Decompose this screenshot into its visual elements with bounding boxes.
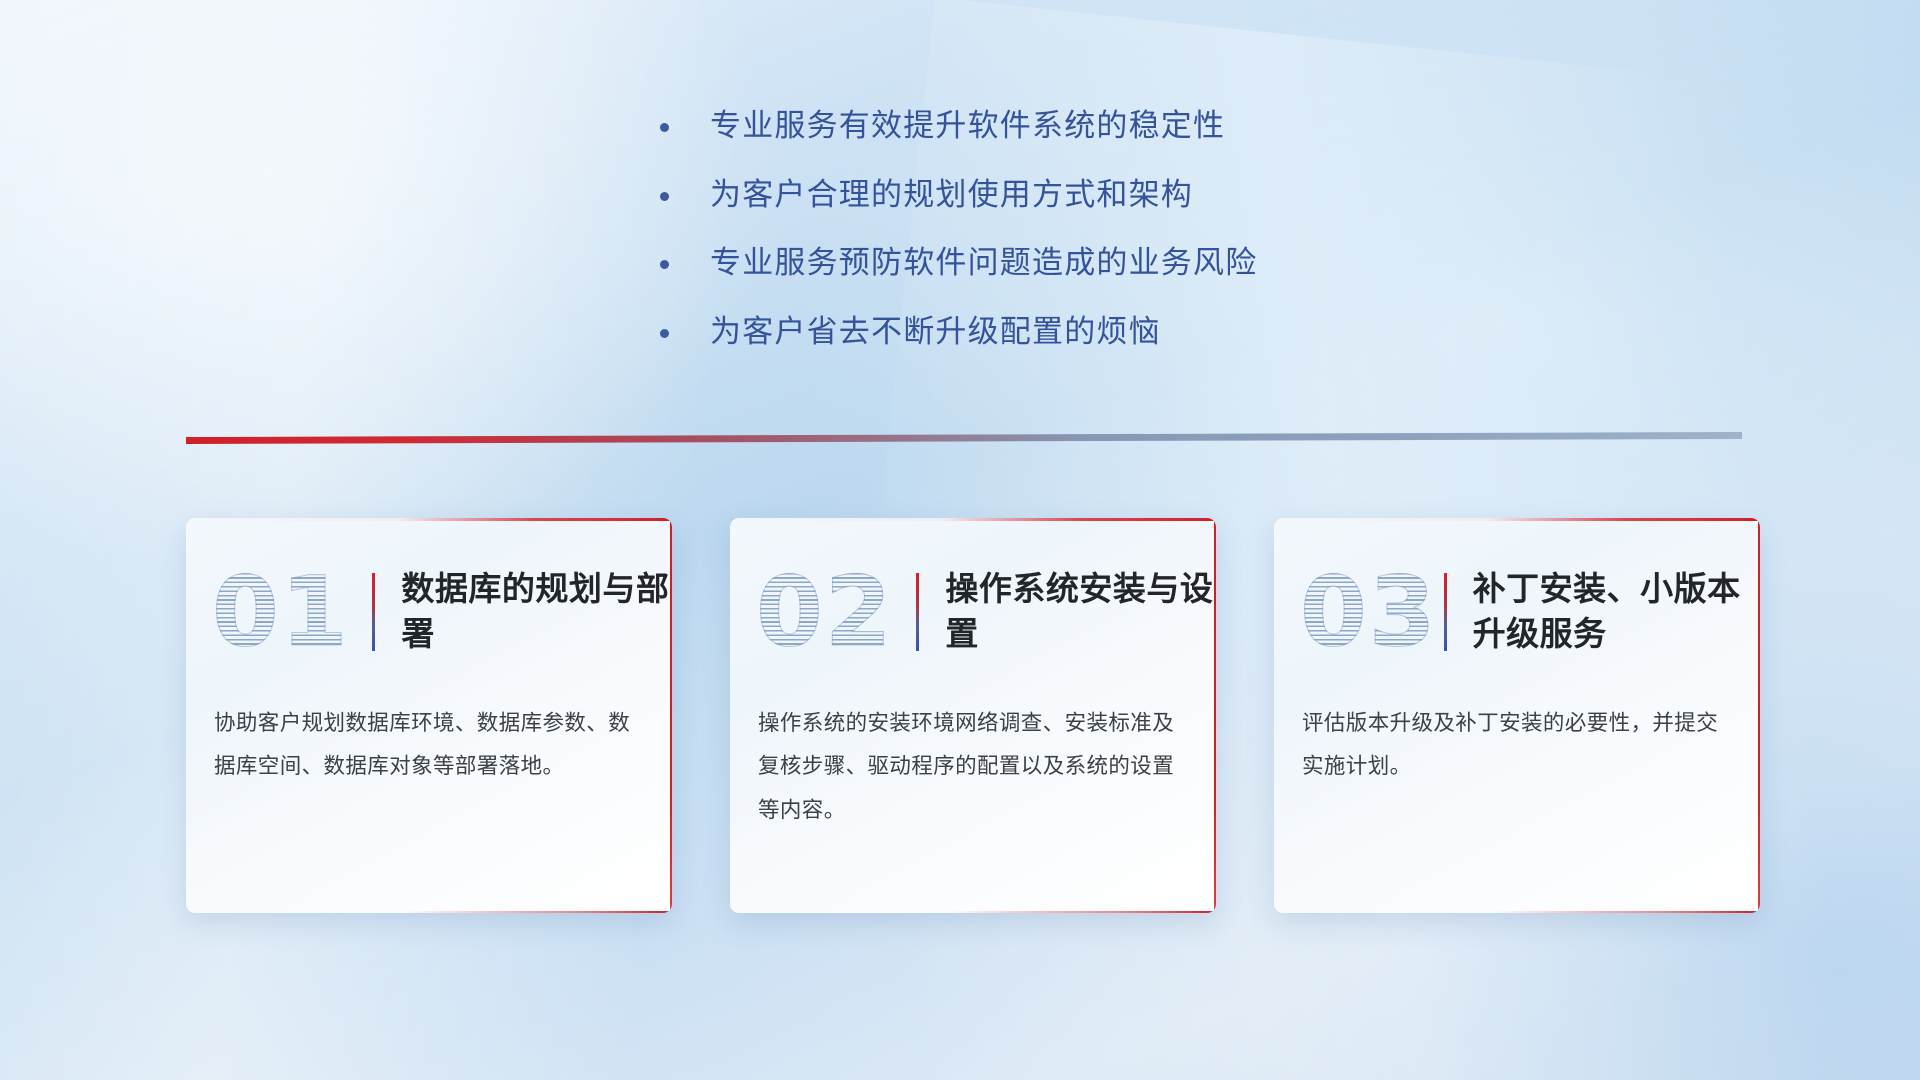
card-title: 操作系统安装与设置 — [945, 567, 1216, 657]
card-accent-right — [1758, 518, 1761, 913]
list-item: 为客户省去不断升级配置的烦恼 — [660, 314, 1257, 351]
service-card[interactable]: 02 操作系统安装与设置 操作系统的安装环境网络调查、安装标准及复核步骤、驱动程… — [730, 518, 1216, 913]
bullet-text: 为客户省去不断升级配置的烦恼 — [710, 314, 1161, 351]
bullet-dot-icon — [660, 123, 669, 132]
slide-root: 专业服务有效提升软件系统的稳定性 为客户合理的规划使用方式和架构 专业服务预防软… — [0, 0, 1920, 1080]
list-item: 为客户合理的规划使用方式和架构 — [660, 177, 1257, 214]
card-header: 03 补丁安装、小版本升级服务 — [1274, 518, 1760, 666]
card-body-text: 协助客户规划数据库环境、数据库参数、数据库空间、数据库对象等部署落地。 — [186, 666, 672, 789]
card-accent-top — [186, 518, 672, 521]
list-item: 专业服务预防软件问题造成的业务风险 — [660, 245, 1257, 282]
bullet-dot-icon — [660, 329, 669, 338]
benefits-bullet-list: 专业服务有效提升软件系统的稳定性 为客户合理的规划使用方式和架构 专业服务预防软… — [660, 108, 1257, 382]
card-number: 01 — [212, 564, 366, 660]
card-title: 补丁安装、小版本升级服务 — [1473, 567, 1760, 657]
card-header: 02 操作系统安装与设置 — [730, 518, 1216, 666]
service-card-row: 01 数据库的规划与部署 协助客户规划数据库环境、数据库参数、数据库空间、数据库… — [186, 518, 1760, 913]
card-accent-bottom — [1274, 911, 1760, 914]
card-divider-bar-icon — [372, 573, 375, 651]
card-accent-right — [670, 518, 673, 913]
card-title: 数据库的规划与部署 — [401, 567, 672, 657]
list-item: 专业服务有效提升软件系统的稳定性 — [660, 108, 1257, 145]
card-header: 01 数据库的规划与部署 — [186, 518, 672, 666]
card-accent-bottom — [186, 911, 672, 914]
card-body-text: 操作系统的安装环境网络调查、安装标准及复核步骤、驱动程序的配置以及系统的设置等内… — [730, 666, 1216, 832]
service-card[interactable]: 01 数据库的规划与部署 协助客户规划数据库环境、数据库参数、数据库空间、数据库… — [186, 518, 672, 913]
card-divider-bar-icon — [916, 573, 919, 651]
divider-gradient-bar — [186, 432, 1742, 444]
card-number: 03 — [1300, 564, 1438, 660]
service-card[interactable]: 03 补丁安装、小版本升级服务 评估版本升级及补丁安装的必要性，并提交实施计划。 — [1274, 518, 1760, 913]
bullet-dot-icon — [660, 192, 669, 201]
bullet-text: 为客户合理的规划使用方式和架构 — [710, 177, 1193, 214]
bullet-text: 专业服务有效提升软件系统的稳定性 — [710, 108, 1225, 145]
bullet-dot-icon — [660, 260, 669, 269]
card-accent-top — [1274, 518, 1760, 521]
card-accent-top — [730, 518, 1216, 521]
card-accent-right — [1214, 518, 1217, 913]
bullet-text: 专业服务预防软件问题造成的业务风险 — [710, 245, 1257, 282]
card-number: 02 — [756, 564, 910, 660]
card-body-text: 评估版本升级及补丁安装的必要性，并提交实施计划。 — [1274, 666, 1760, 789]
section-divider — [186, 432, 1742, 444]
card-accent-bottom — [730, 911, 1216, 914]
card-divider-bar-icon — [1444, 573, 1447, 651]
